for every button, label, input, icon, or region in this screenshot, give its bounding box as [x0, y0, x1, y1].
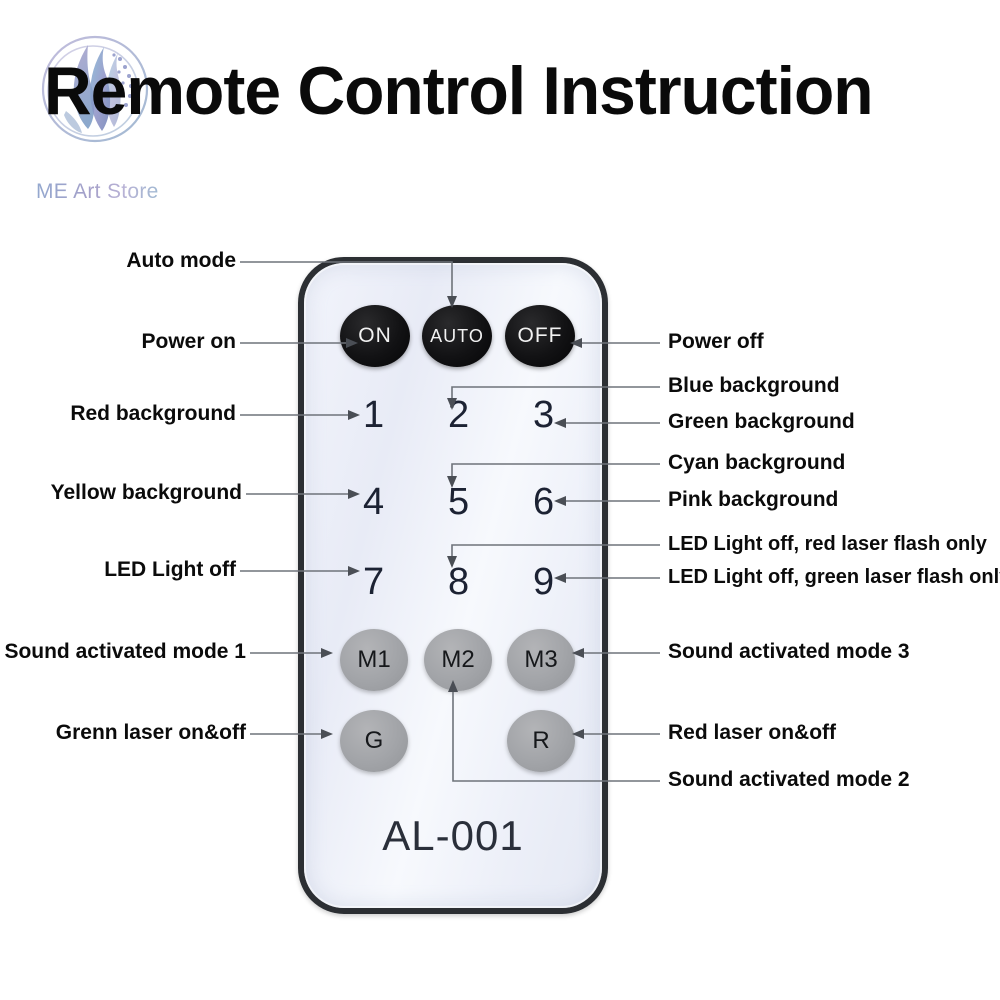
- callout-power-off: Power off: [668, 331, 764, 352]
- remote-button-green-laser-label: G: [365, 727, 384, 755]
- remote-button-on[interactable]: ON: [340, 305, 410, 367]
- remote-button-green-laser[interactable]: G: [340, 710, 408, 772]
- remote-button-off-label: OFF: [518, 324, 563, 348]
- callout-led-light-off: LED Light off: [104, 559, 236, 580]
- callout-green-background: Green background: [668, 411, 855, 432]
- callout-red-laser-on-off: Red laser on&off: [668, 722, 836, 743]
- callout-red-background: Red background: [70, 403, 236, 424]
- remote-button-m2-label: M2: [441, 646, 474, 674]
- remote-key-4[interactable]: 4: [363, 483, 384, 521]
- callout-power-on: Power on: [141, 331, 236, 352]
- remote-key-1[interactable]: 1: [363, 396, 384, 434]
- callout-sound-activated-mode-3: Sound activated mode 3: [668, 641, 910, 662]
- remote-button-off[interactable]: OFF: [505, 305, 575, 367]
- remote-button-on-label: ON: [358, 324, 392, 348]
- remote-button-red-laser[interactable]: R: [507, 710, 575, 772]
- callout-green-laser-on-off: Grenn laser on&off: [56, 722, 246, 743]
- remote-key-8[interactable]: 8: [448, 563, 469, 601]
- remote-button-m3-label: M3: [524, 646, 557, 674]
- remote-button-m2[interactable]: M2: [424, 629, 492, 691]
- remote-button-m1[interactable]: M1: [340, 629, 408, 691]
- callout-led-off-green-laser: LED Light off, green laser flash only: [668, 567, 1000, 587]
- remote-key-2[interactable]: 2: [448, 396, 469, 434]
- remote-key-5[interactable]: 5: [448, 483, 469, 521]
- remote-button-m1-label: M1: [357, 646, 390, 674]
- callout-sound-activated-mode-1: Sound activated mode 1: [4, 641, 246, 662]
- callout-auto-mode: Auto mode: [126, 250, 236, 271]
- remote-control-body: ON AUTO OFF 1 2 3 4 5 6 7 8 9 M1 M2 M3 G…: [298, 257, 608, 914]
- remote-key-6[interactable]: 6: [533, 483, 554, 521]
- remote-button-m3[interactable]: M3: [507, 629, 575, 691]
- remote-button-auto-label: AUTO: [430, 326, 484, 347]
- callout-sound-activated-mode-2: Sound activated mode 2: [668, 769, 910, 790]
- page-title: Remote Control Instruction: [44, 57, 873, 125]
- remote-model-label: AL-001: [304, 812, 602, 860]
- callout-led-off-red-laser: LED Light off, red laser flash only: [668, 534, 987, 554]
- callout-blue-background: Blue background: [668, 375, 840, 396]
- remote-button-auto[interactable]: AUTO: [422, 305, 492, 367]
- remote-key-9[interactable]: 9: [533, 563, 554, 601]
- remote-key-3[interactable]: 3: [533, 396, 554, 434]
- callout-yellow-background: Yellow background: [51, 482, 242, 503]
- brand-name: ME Art Store: [36, 180, 159, 204]
- callout-cyan-background: Cyan background: [668, 452, 845, 473]
- remote-button-red-laser-label: R: [532, 727, 549, 755]
- callout-pink-background: Pink background: [668, 489, 838, 510]
- remote-key-7[interactable]: 7: [363, 563, 384, 601]
